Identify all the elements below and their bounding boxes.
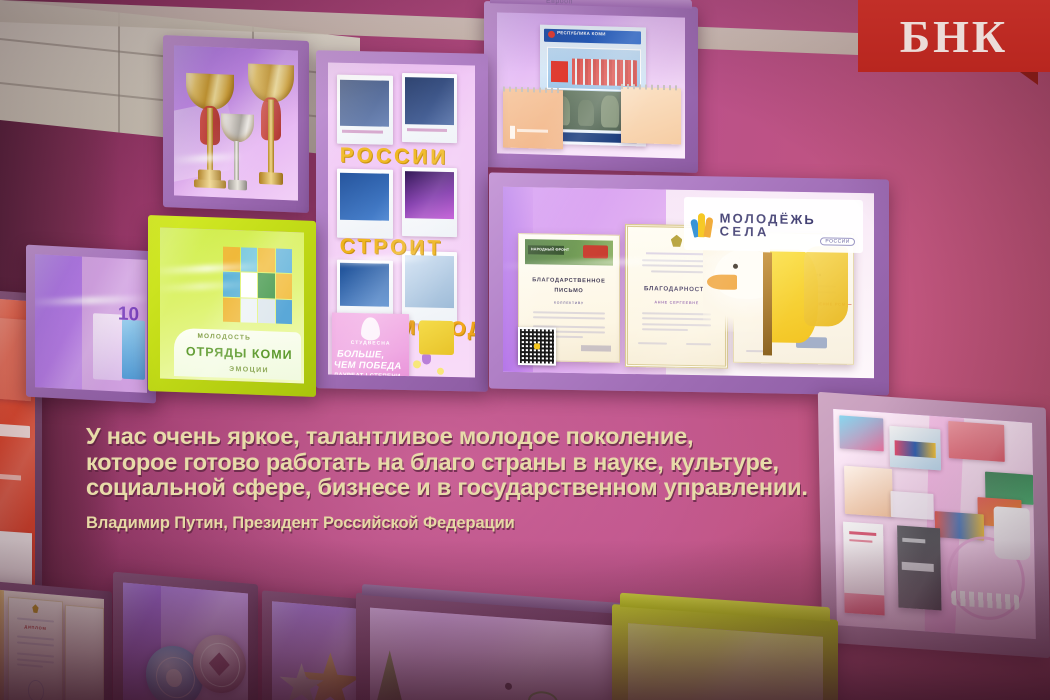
bnk-watermark: БНК bbox=[858, 0, 1050, 72]
watermark-text: БНК bbox=[900, 10, 1009, 63]
case-top-label: Еврооп bbox=[546, 0, 573, 5]
quote-line-2: которое готово работать на благо страны … bbox=[86, 450, 826, 476]
molodezh-sela-logo: МОЛОДЁЖЬ СЕЛА РОССИИ bbox=[684, 197, 863, 253]
logo-badge: РОССИИ bbox=[820, 237, 855, 246]
cert1-subtitle: КОЛЛЕКТИВУ bbox=[519, 300, 619, 306]
photograph-scene: 10 bbox=[0, 0, 1050, 700]
trophy-case[interactable] bbox=[163, 35, 309, 213]
left-upper-case[interactable]: 10 bbox=[26, 245, 156, 404]
quote-attribution: Владимир Путин, Президент Российской Фед… bbox=[86, 514, 826, 533]
studvesna-brand: СТУДВЕСНА bbox=[349, 340, 392, 346]
cert1-title2: ПИСЬМО bbox=[519, 287, 619, 295]
russia-builds-case[interactable]: РОССИИ СТРОИТ МОЛОД СТУДВЕСНА БОЛЬШЕ, ЧЕ… bbox=[316, 50, 488, 392]
cert1-header: НАРОДНЫЙ ФРОНТ bbox=[531, 247, 569, 252]
wall-shadow-bottom bbox=[0, 540, 1050, 700]
studvesna-poster: СТУДВЕСНА БОЛЬШЕ, ЧЕМ ПОБЕДА ЛАУРЕАТ I С… bbox=[332, 312, 408, 377]
headline-word-1: РОССИИ bbox=[340, 144, 449, 170]
quote-line-3: социальной сфере, бизнесе и в государств… bbox=[86, 475, 826, 501]
quote-line-1: У нас очень яркое, талантливое молодое п… bbox=[86, 424, 826, 450]
wall-quote: У нас очень яркое, талантливое молодое п… bbox=[86, 424, 826, 533]
leaf-icon bbox=[692, 211, 714, 237]
qr-code[interactable] bbox=[518, 327, 556, 366]
student-squads-case[interactable]: МОЛОДОСТЬ ОТРЯДЫ КОМИ ЭМОЦИИ bbox=[148, 215, 316, 397]
komi-republic-case[interactable]: РЕСПУБЛИКА КОМИ Еврооп bbox=[484, 1, 698, 173]
squads-line-3: ЭМОЦИИ bbox=[229, 366, 269, 374]
certificates-case[interactable]: НАРОДНЫЙ ФРОНТ БЛАГОДАРСТВЕННОЕ ПИСЬМО К… bbox=[489, 173, 889, 396]
cert1-title: БЛАГОДАРСТВЕННОЕ bbox=[519, 277, 619, 285]
studvesna-line2: ЧЕМ ПОБЕДА bbox=[334, 360, 407, 373]
